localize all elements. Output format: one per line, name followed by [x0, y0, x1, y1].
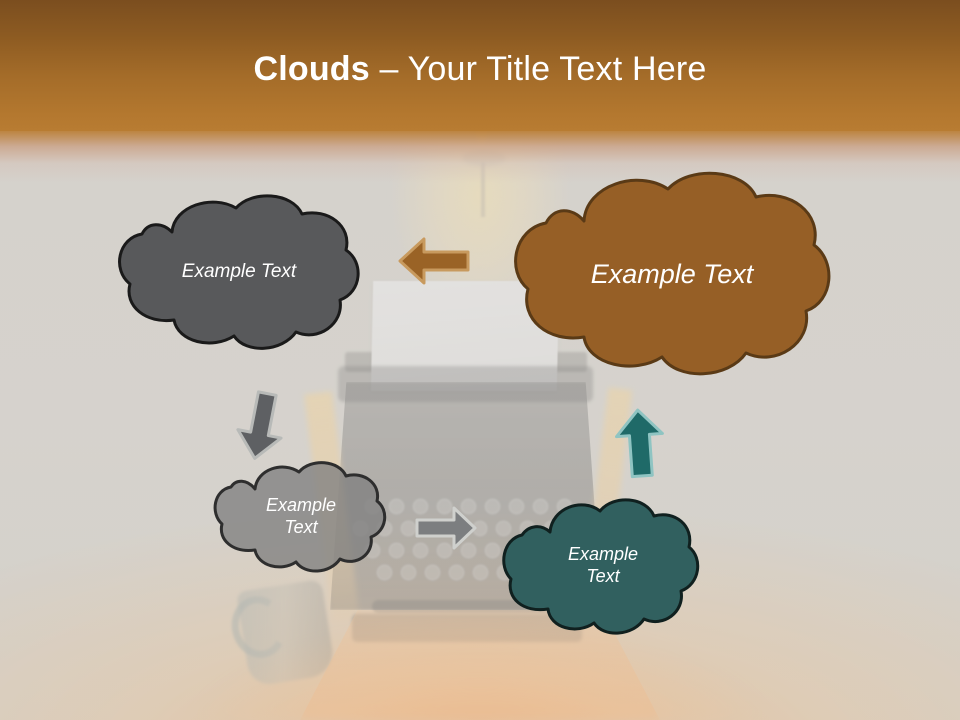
arrow-up-icon[interactable] — [613, 407, 667, 479]
cloud-shape-brown[interactable]: Example Text — [506, 163, 838, 385]
cloud-shape-dark-gray[interactable]: Example Text — [112, 188, 366, 356]
slide-canvas: Clouds – Your Title Text Here — [0, 0, 960, 720]
arrow-right-icon[interactable] — [414, 503, 478, 553]
page-title: Clouds – Your Title Text Here — [0, 48, 960, 90]
cloud-shape-light-gray[interactable]: Example Text — [215, 457, 387, 576]
arrow-left-icon[interactable] — [398, 233, 470, 289]
arrow-down-icon[interactable] — [232, 390, 290, 462]
page-title-rest: – Your Title Text Here — [370, 50, 707, 88]
page-title-bold: Clouds — [253, 50, 369, 88]
cloud-shape-teal[interactable]: Example Text — [504, 492, 702, 640]
